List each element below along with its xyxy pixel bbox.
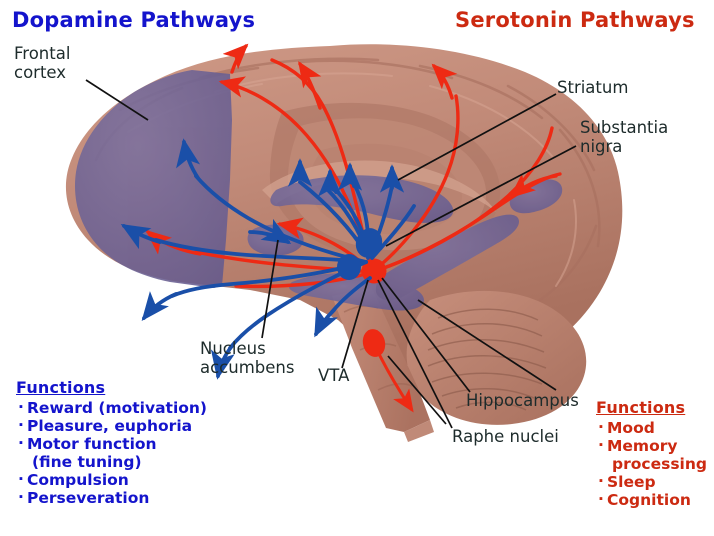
brain-pathway-diagram: Dopamine Pathways Serotonin Pathways Fro… [0, 0, 714, 536]
list-item: Sleep [596, 473, 707, 491]
label-vta: VTA [318, 366, 349, 385]
functions-dopamine-list: Reward (motivation) Pleasure, euphoria M… [16, 399, 207, 507]
list-item: Motor function [16, 435, 207, 453]
list-item: Cognition [596, 491, 707, 509]
list-item: Reward (motivation) [16, 399, 207, 417]
list-item: Memory [596, 437, 707, 455]
list-item: Compulsion [16, 471, 207, 489]
title-serotonin-pathways: Serotonin Pathways [455, 8, 695, 32]
label-raphe-nuclei: Raphe nuclei [452, 427, 559, 446]
functions-dopamine-heading: Functions [16, 378, 207, 397]
label-striatum: Striatum [557, 78, 628, 97]
list-item: processing [596, 455, 707, 473]
title-dopamine-pathways: Dopamine Pathways [12, 8, 255, 32]
vta-blue-node [337, 254, 361, 280]
functions-serotonin: Functions Mood Memory processing Sleep C… [596, 398, 707, 509]
functions-serotonin-list: Mood Memory processing Sleep Cognition [596, 419, 707, 509]
functions-serotonin-heading: Functions [596, 398, 707, 417]
functions-dopamine: Functions Reward (motivation) Pleasure, … [16, 378, 207, 507]
list-item: (fine tuning) [16, 453, 207, 471]
label-nucleus-accumbens: Nucleus accumbens [200, 339, 294, 377]
label-hippocampus: Hippocampus [466, 391, 579, 410]
list-item: Pleasure, euphoria [16, 417, 207, 435]
label-frontal-cortex: Frontal cortex [14, 44, 70, 82]
list-item: Mood [596, 419, 707, 437]
label-substantia-nigra: Substantia nigra [580, 118, 668, 156]
list-item: Perseveration [16, 489, 207, 507]
